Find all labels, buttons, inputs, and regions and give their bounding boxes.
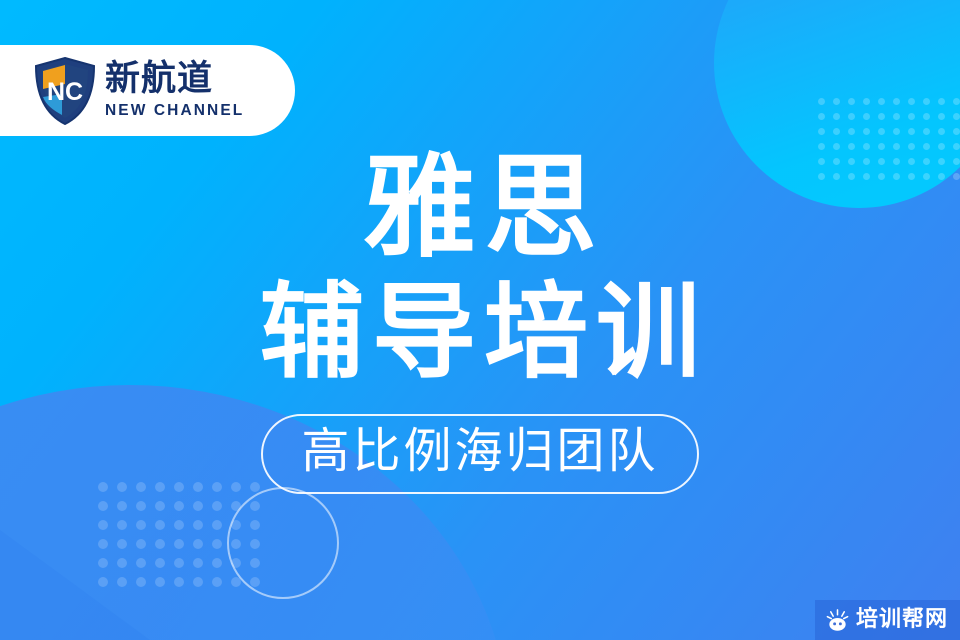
headline-block: 雅思 辅导培训 高比例海归团队: [0, 0, 960, 640]
watermark-badge: 培训帮网: [815, 600, 960, 640]
sunface-icon: [825, 608, 850, 633]
subtitle-pill: 高比例海归团队: [261, 414, 698, 494]
poster-canvas: NC 新航道 NEW CHANNEL 雅思 辅导培训 高比例海归团队: [0, 0, 960, 640]
headline-line-1: 雅思: [355, 152, 606, 264]
headline-line-2: 辅导培训: [252, 280, 708, 384]
watermark-label: 培训帮网: [856, 609, 948, 631]
